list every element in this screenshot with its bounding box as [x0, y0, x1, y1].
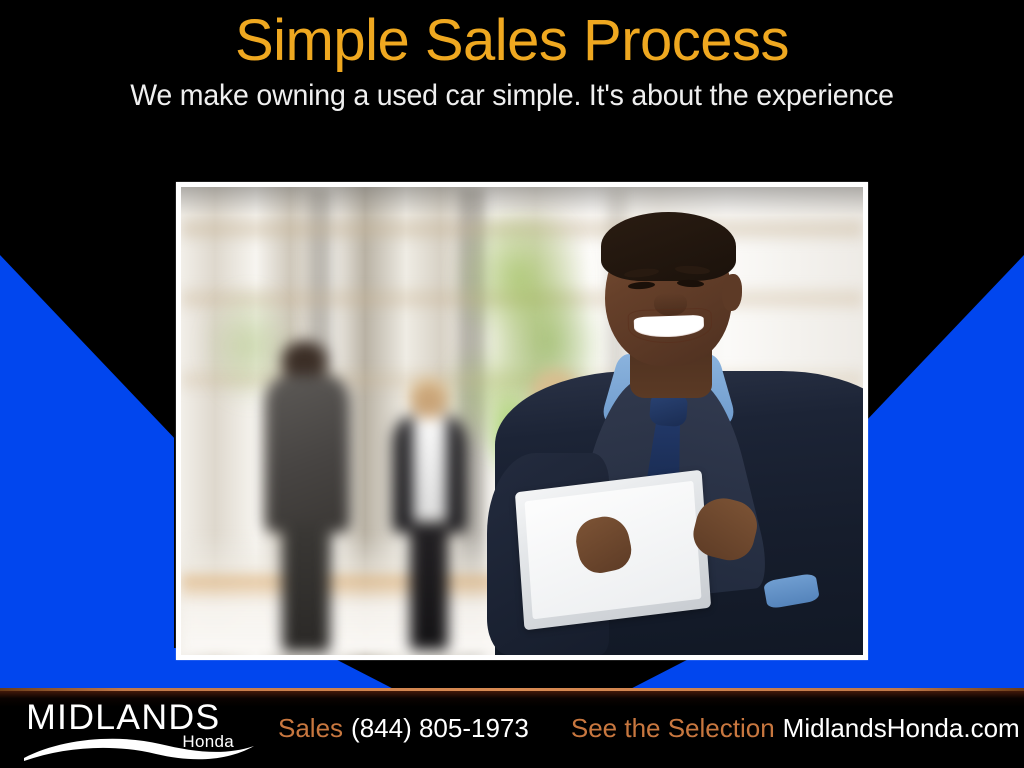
contact-website-label: See the Selection: [571, 713, 775, 744]
contact-sales-phone[interactable]: (844) 805-1973: [351, 713, 529, 744]
businessman-hair: [601, 212, 736, 281]
dealer-logo[interactable]: MIDLANDS Honda: [22, 690, 258, 766]
contact-website[interactable]: See the Selection MidlandsHonda.com: [571, 713, 1020, 744]
background-person-head: [412, 384, 447, 421]
contact-sales-label: Sales: [278, 713, 343, 744]
photo-image: [181, 187, 863, 655]
contact-website-url[interactable]: MidlandsHonda.com: [783, 713, 1020, 744]
background-person-legs: [282, 524, 330, 652]
slide-canvas: Simple Sales Process We make owning a us…: [0, 0, 1024, 768]
contact-sales[interactable]: Sales (844) 805-1973: [278, 713, 529, 744]
foreground-businessman: [495, 196, 863, 655]
background-person-woman-dark-suit: [392, 384, 467, 651]
footer-contact-group: Sales (844) 805-1973 See the Selection M…: [278, 713, 1024, 744]
photo-frame: [176, 182, 868, 660]
background-person-body: [265, 375, 350, 533]
swoosh-icon: [22, 732, 258, 762]
businessman-ear: [722, 274, 742, 311]
background-person-legs: [410, 522, 448, 650]
background-person-man: [263, 341, 352, 645]
page-subtitle: We make owning a used car simple. It's a…: [26, 73, 999, 115]
header: Simple Sales Process We make owning a us…: [0, 0, 1024, 140]
page-title: Simple Sales Process: [0, 0, 1024, 73]
footer: MIDLANDS Honda Sales (844) 805-1973 See …: [0, 688, 1024, 768]
